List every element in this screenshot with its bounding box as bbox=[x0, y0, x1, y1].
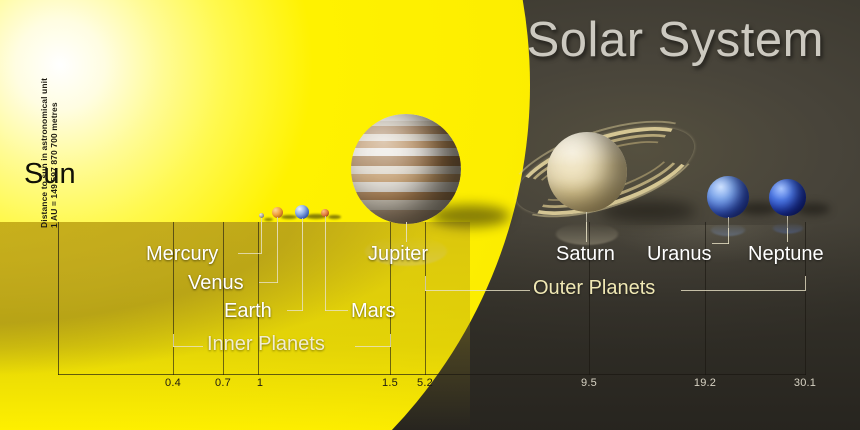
label-venus: Venus bbox=[188, 272, 244, 295]
solar-system-diagram: Solar System Sun 0.4 0.7 bbox=[0, 0, 860, 430]
label-mars: Mars bbox=[351, 300, 395, 323]
mars-shadow bbox=[328, 215, 341, 219]
planet-jupiter[interactable] bbox=[351, 114, 461, 224]
jupiter-leader-v bbox=[406, 222, 407, 242]
label-mercury: Mercury bbox=[146, 243, 218, 266]
planet-uranus[interactable] bbox=[707, 176, 749, 218]
outer-bracket-right-stub bbox=[805, 276, 806, 291]
earth-leader-h bbox=[287, 310, 303, 311]
tick-label-0.7: 0.7 bbox=[215, 377, 231, 389]
tick-label-19.2: 19.2 bbox=[694, 377, 716, 389]
tick-label-1: 1 bbox=[257, 377, 263, 389]
y-axis-caption-line2: 1 AU = 149 597 870 700 metres bbox=[50, 78, 60, 228]
neptune-reflection bbox=[773, 223, 803, 234]
venus-shadow bbox=[281, 215, 297, 219]
inner-bracket-right bbox=[355, 346, 391, 347]
tick-label-1.5: 1.5 bbox=[382, 377, 398, 389]
venus-leader-h bbox=[259, 282, 278, 283]
tick-label-9.5: 9.5 bbox=[581, 377, 597, 389]
label-saturn: Saturn bbox=[556, 243, 615, 266]
y-axis-line bbox=[58, 222, 59, 375]
venus-leader-v bbox=[277, 222, 278, 283]
earth-leader-v bbox=[302, 222, 303, 311]
tick-label-30.1: 30.1 bbox=[794, 377, 816, 389]
mercury-shadow bbox=[264, 218, 273, 221]
page-title: Solar System bbox=[527, 12, 824, 68]
saturn-reflection bbox=[556, 223, 618, 245]
neptune-leader-v bbox=[787, 228, 788, 242]
mars-leader-h bbox=[325, 310, 348, 311]
label-earth: Earth bbox=[224, 300, 272, 323]
tick-label-5.2: 5.2 bbox=[417, 377, 433, 389]
outer-bracket-right bbox=[681, 290, 805, 291]
saturn-leader-v bbox=[586, 222, 587, 242]
planet-neptune[interactable] bbox=[769, 179, 806, 216]
tick-label-0.4: 0.4 bbox=[165, 377, 181, 389]
label-jupiter: Jupiter bbox=[368, 243, 428, 266]
inner-bracket-left-stub bbox=[173, 334, 174, 347]
label-neptune: Neptune bbox=[748, 243, 824, 266]
label-uranus: Uranus bbox=[647, 243, 711, 266]
outer-bracket-left bbox=[425, 290, 530, 291]
mercury-leader-h bbox=[238, 253, 261, 254]
uranus-leader-v bbox=[728, 228, 729, 244]
y-axis-caption: Distance to sun in astronomical unit 1 A… bbox=[40, 78, 59, 228]
x-axis-line bbox=[58, 374, 806, 375]
uranus-leader-h bbox=[712, 243, 729, 244]
mercury-leader-v bbox=[261, 222, 262, 254]
mars-leader-v bbox=[325, 222, 326, 311]
planet-earth[interactable] bbox=[295, 205, 309, 219]
inner-bracket-left bbox=[173, 346, 203, 347]
outer-bracket-left-stub bbox=[425, 276, 426, 291]
planet-saturn[interactable] bbox=[547, 132, 627, 212]
inner-planets-label: Inner Planets bbox=[207, 333, 325, 356]
outer-planets-label: Outer Planets bbox=[533, 277, 655, 300]
inner-bracket-right-stub bbox=[390, 334, 391, 347]
